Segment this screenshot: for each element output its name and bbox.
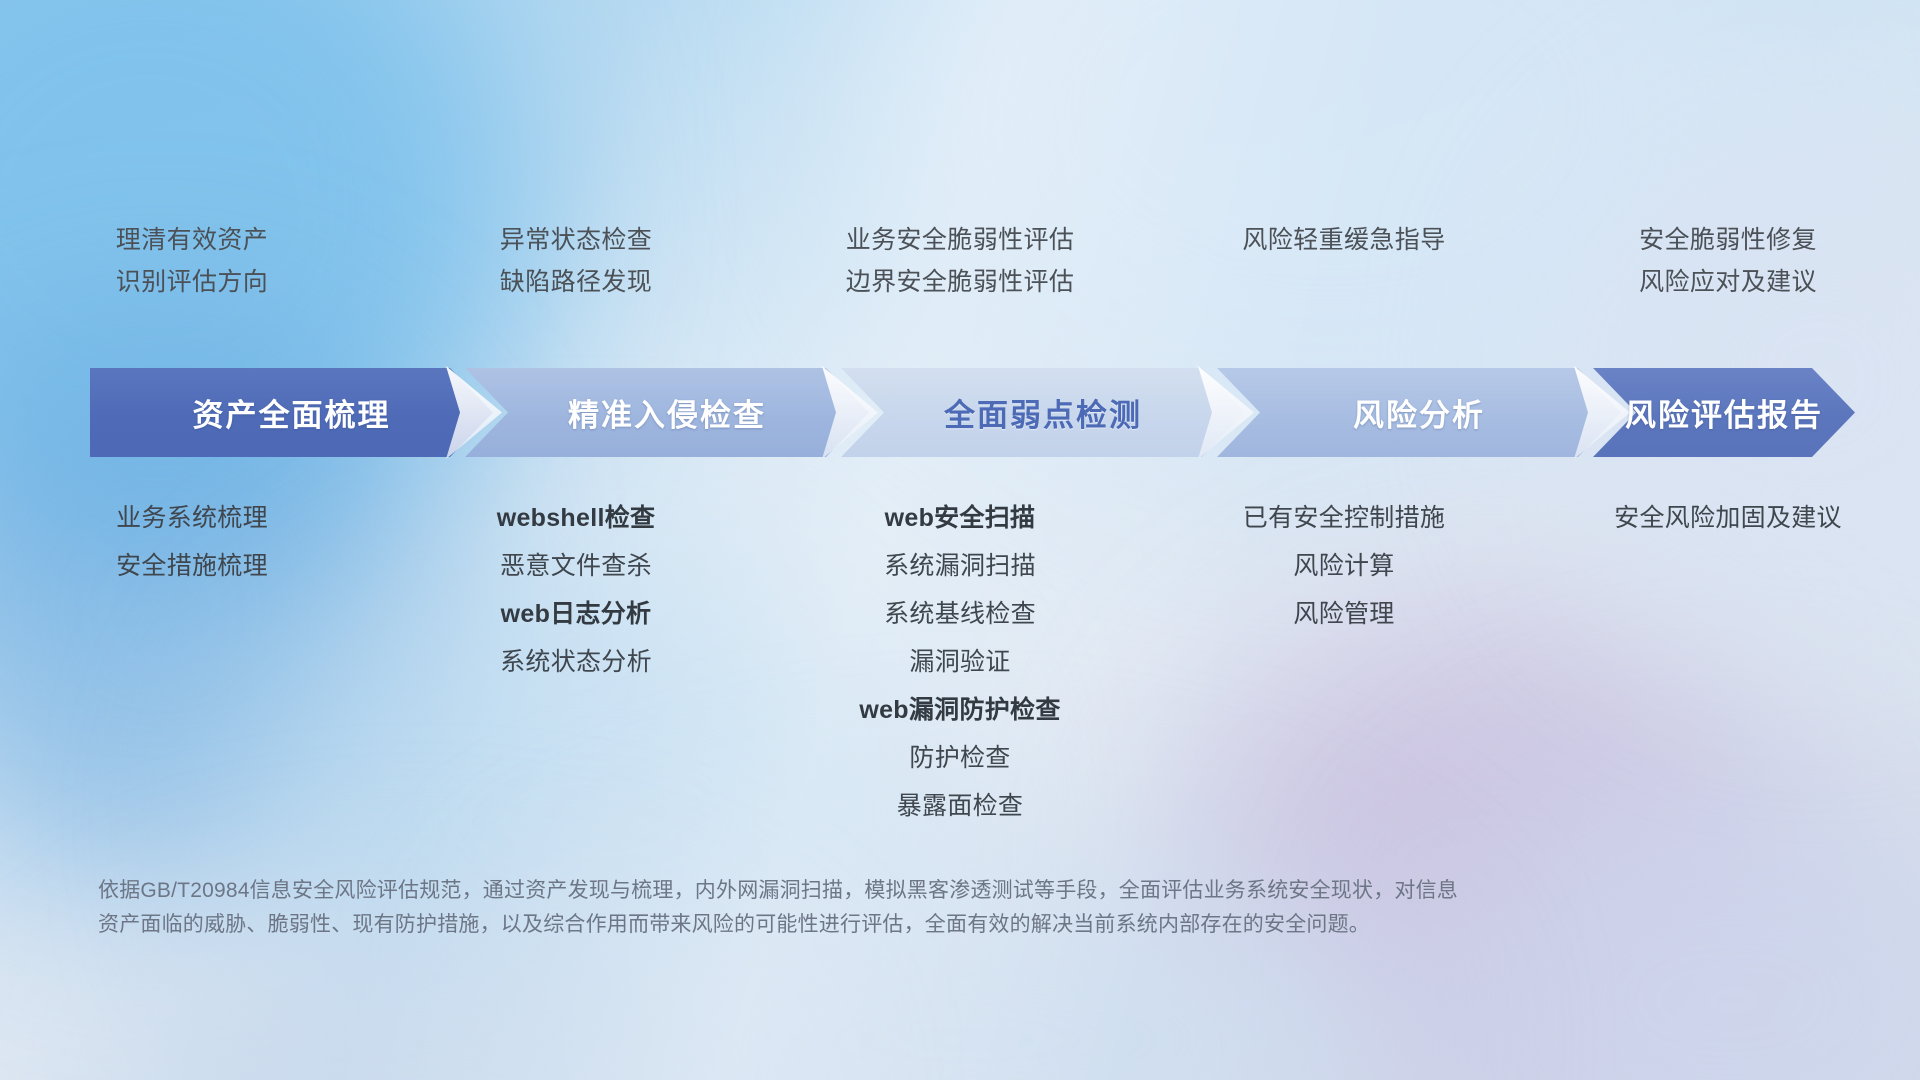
- detail-item: web日志分析: [501, 602, 652, 627]
- detail-item: 系统漏洞扫描: [884, 554, 1036, 579]
- stage-chevron-4[interactable]: 风险分析: [1217, 368, 1621, 457]
- top-caption-line: 缺陷路径发现: [500, 270, 652, 295]
- detail-item: 系统状态分析: [500, 650, 652, 675]
- detail-item: 安全风险加固及建议: [1614, 506, 1842, 531]
- top-caption-column-4: 风险轻重缓急指导: [1152, 228, 1536, 338]
- stage-chevron-2[interactable]: 精准入侵检查: [465, 368, 869, 457]
- stage-chevron-3[interactable]: 全面弱点检测: [841, 368, 1245, 457]
- top-caption-line: 理清有效资产: [116, 228, 268, 253]
- top-caption-line: 安全脆弱性修复: [1639, 228, 1817, 253]
- footer-description: 依据GB/T20984信息安全风险评估规范，通过资产发现与梳理，内外网漏洞扫描，…: [98, 874, 1658, 942]
- process-chevron-banner: 资产全面梳理 精准入侵检查 全面弱点检测 风险分析 风险评估报告: [90, 368, 1855, 457]
- detail-item: 风险计算: [1293, 554, 1394, 579]
- detail-item: web安全扫描: [885, 506, 1036, 531]
- detail-item: 安全措施梳理: [116, 554, 268, 579]
- detail-item: 系统基线检查: [884, 602, 1036, 627]
- stage-chevron-1[interactable]: 资产全面梳理: [90, 368, 493, 457]
- detail-item: webshell检查: [497, 506, 656, 531]
- top-caption-line: 异常状态检查: [500, 228, 652, 253]
- top-caption-line: 识别评估方向: [116, 270, 268, 295]
- detail-item: 已有安全控制措施: [1243, 506, 1445, 531]
- detail-column-5: 安全风险加固及建议: [1536, 506, 1920, 531]
- top-caption-column-3: 业务安全脆弱性评估 边界安全脆弱性评估: [768, 228, 1152, 338]
- detail-item: 恶意文件查杀: [500, 554, 652, 579]
- stage-label: 精准入侵检查: [568, 390, 766, 435]
- detail-item: 暴露面检查: [897, 794, 1024, 819]
- top-caption-line: 业务安全脆弱性评估: [846, 228, 1075, 253]
- footer-line-1: 依据GB/T20984信息安全风险评估规范，通过资产发现与梳理，内外网漏洞扫描，…: [98, 874, 1658, 908]
- detail-item: 风险管理: [1293, 602, 1394, 627]
- stage-label: 全面弱点检测: [944, 390, 1142, 435]
- top-caption-line: 边界安全脆弱性评估: [846, 270, 1075, 295]
- top-caption-column-5: 安全脆弱性修复 风险应对及建议: [1536, 228, 1920, 338]
- detail-column-1: 业务系统梳理 安全措施梳理: [0, 506, 384, 579]
- top-caption-row: 理清有效资产 识别评估方向 异常状态检查 缺陷路径发现 业务安全脆弱性评估 边界…: [0, 228, 1920, 338]
- detail-column-2: webshell检查 恶意文件查杀 web日志分析 系统状态分析: [384, 506, 768, 675]
- footer-line-2: 资产面临的威胁、脆弱性、现有防护措施，以及综合作用而带来风险的可能性进行评估，全…: [98, 908, 1658, 942]
- stage-label: 风险评估报告: [1625, 390, 1823, 435]
- diagram-stage: 理清有效资产 识别评估方向 异常状态检查 缺陷路径发现 业务安全脆弱性评估 边界…: [0, 0, 1920, 1080]
- detail-column-4: 已有安全控制措施 风险计算 风险管理: [1152, 506, 1536, 627]
- detail-item: 漏洞验证: [909, 650, 1010, 675]
- detail-column-3: web安全扫描 系统漏洞扫描 系统基线检查 漏洞验证 web漏洞防护检查 防护检…: [768, 506, 1152, 819]
- top-caption-column-2: 异常状态检查 缺陷路径发现: [384, 228, 768, 338]
- detail-item: 防护检查: [909, 746, 1010, 771]
- stage-chevron-5[interactable]: 风险评估报告: [1593, 368, 1855, 457]
- stage-label: 风险分析: [1353, 390, 1485, 435]
- stage-label: 资产全面梳理: [193, 390, 391, 435]
- detail-row: 业务系统梳理 安全措施梳理 webshell检查 恶意文件查杀 web日志分析 …: [0, 506, 1920, 819]
- top-caption-line: 风险应对及建议: [1639, 270, 1817, 295]
- detail-item: 业务系统梳理: [116, 506, 268, 531]
- top-caption-line: 风险轻重缓急指导: [1242, 228, 1445, 253]
- top-caption-column-1: 理清有效资产 识别评估方向: [0, 228, 384, 338]
- detail-item: web漏洞防护检查: [859, 698, 1060, 723]
